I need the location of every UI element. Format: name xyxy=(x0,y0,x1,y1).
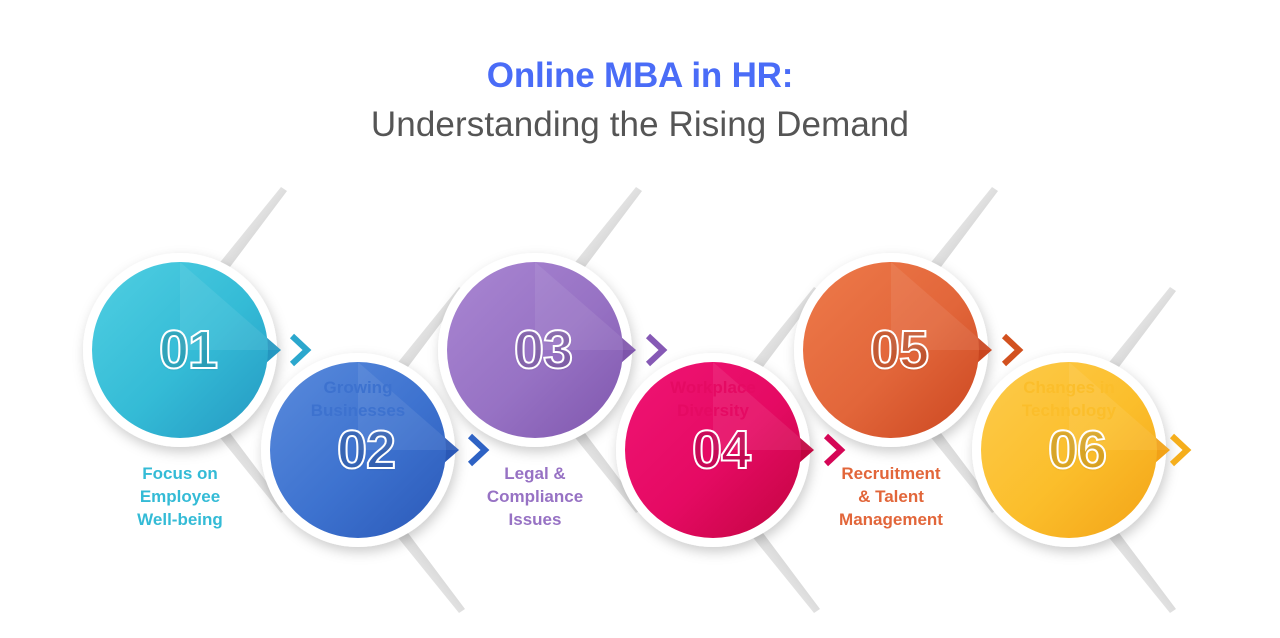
chevron-right-icon-03 xyxy=(643,333,669,367)
title-line-primary: Online MBA in HR: xyxy=(0,56,1280,97)
chevron-right-icon-04 xyxy=(821,433,847,467)
page-title: Online MBA in HR: Understanding the Risi… xyxy=(0,56,1280,145)
process-step-06[interactable]: 06 Changes in Technology xyxy=(974,345,1234,638)
step-label-05: Recruitment & Talent Management xyxy=(796,463,986,532)
infographic-canvas: Online MBA in HR: Understanding the Risi… xyxy=(0,0,1280,638)
step-label-01: Focus on Employee Well-being xyxy=(85,463,275,532)
step-label-02: Growing Businesses xyxy=(263,377,453,423)
step-label-06: Changes in Technology xyxy=(974,377,1164,423)
chevron-right-icon-05 xyxy=(999,333,1025,367)
chevron-right-icon-02 xyxy=(465,433,491,467)
chevron-right-icon-06 xyxy=(1167,433,1193,467)
title-line-secondary: Understanding the Rising Demand xyxy=(0,105,1280,146)
step-label-03: Legal & Compliance Issues xyxy=(440,463,630,532)
step-label-04: Workplace Diversity xyxy=(618,377,808,423)
chevron-right-icon-01 xyxy=(287,333,313,367)
